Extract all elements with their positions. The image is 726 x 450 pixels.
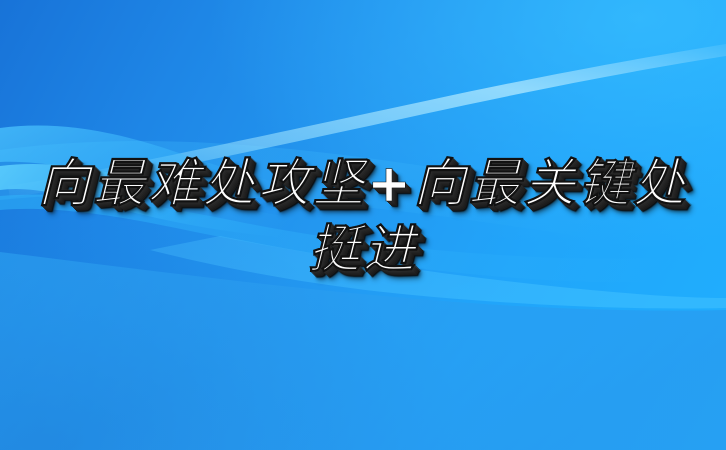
promotional-banner: 向最难处攻坚+向最关键处 挺进 xyxy=(0,0,726,450)
headline-text: 向最难处攻坚+向最关键处 挺进 xyxy=(0,152,726,283)
